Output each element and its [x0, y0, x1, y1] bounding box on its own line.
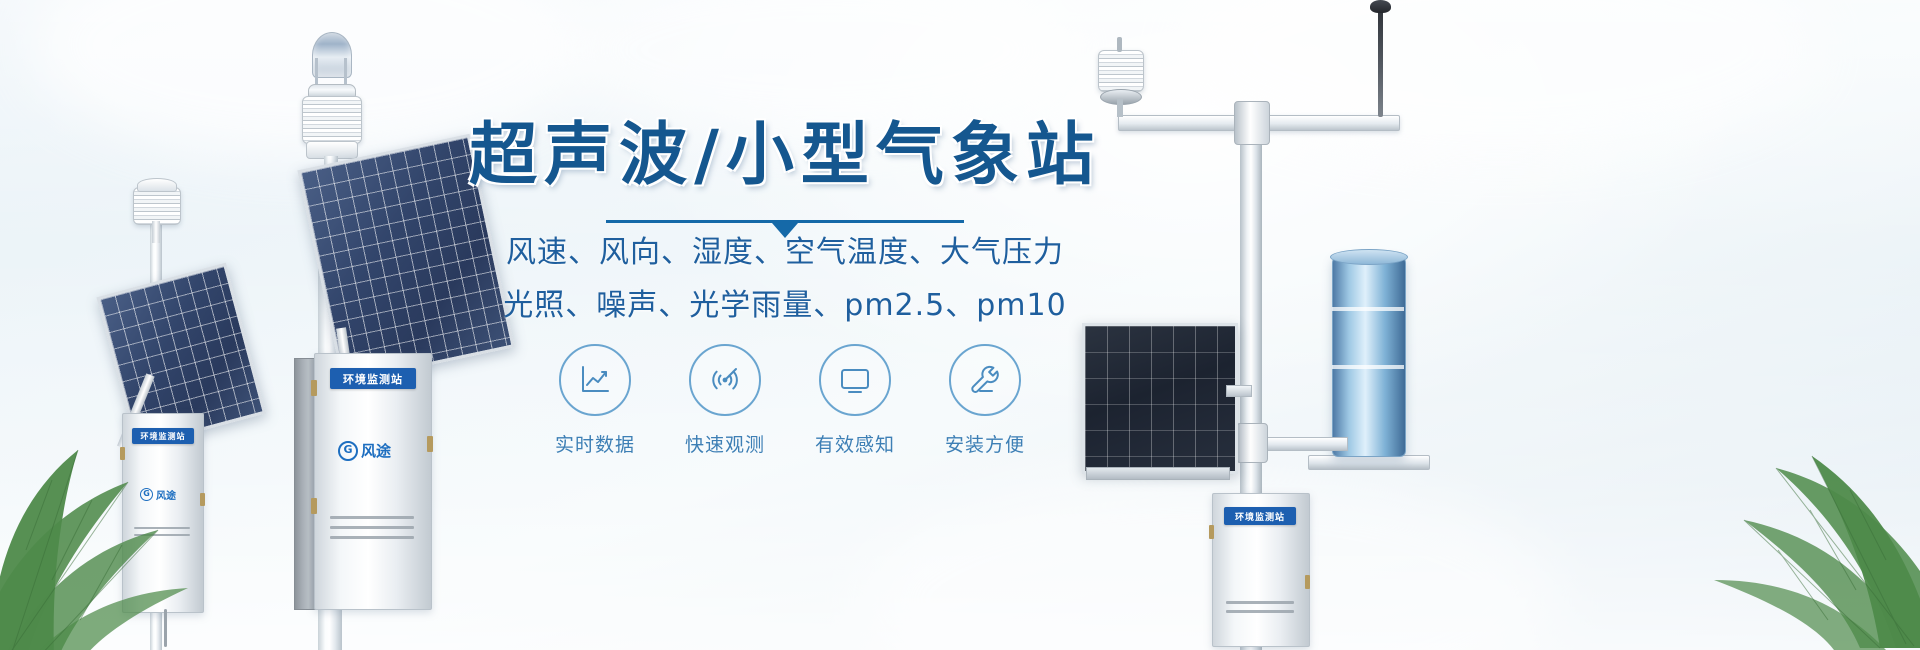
- subtitle-line-2: 光照、噪声、光学雨量、pm2.5、pm10: [450, 289, 1120, 323]
- page-title: 超声波/小型气象站: [450, 118, 1120, 194]
- feature-item-easy-installation[interactable]: 安装方便: [930, 344, 1040, 457]
- product-banner: 环境监测站 G 风途 环境监测站: [0, 0, 1920, 650]
- feature-label: 快速观测: [685, 430, 765, 457]
- feature-label: 安装方便: [945, 430, 1025, 457]
- monitor-display-icon: [819, 344, 891, 416]
- banner-copy: 超声波/小型气象站 风速、风向、湿度、空气温度、大气压力 光照、噪声、光学雨量、…: [0, 0, 1920, 650]
- feature-list: 实时数据 快速观测: [540, 344, 1040, 464]
- subtitle-line-1: 风速、风向、湿度、空气温度、大气压力: [450, 236, 1120, 270]
- feature-label: 有效感知: [815, 430, 895, 457]
- radar-sensing-icon: [689, 344, 761, 416]
- feature-label: 实时数据: [555, 430, 635, 457]
- feature-item-realtime-data[interactable]: 实时数据: [540, 344, 650, 457]
- feature-item-fast-observation[interactable]: 快速观测: [670, 344, 780, 457]
- line-chart-icon: [559, 344, 631, 416]
- feature-item-effective-sensing[interactable]: 有效感知: [800, 344, 910, 457]
- wrench-icon: [949, 344, 1021, 416]
